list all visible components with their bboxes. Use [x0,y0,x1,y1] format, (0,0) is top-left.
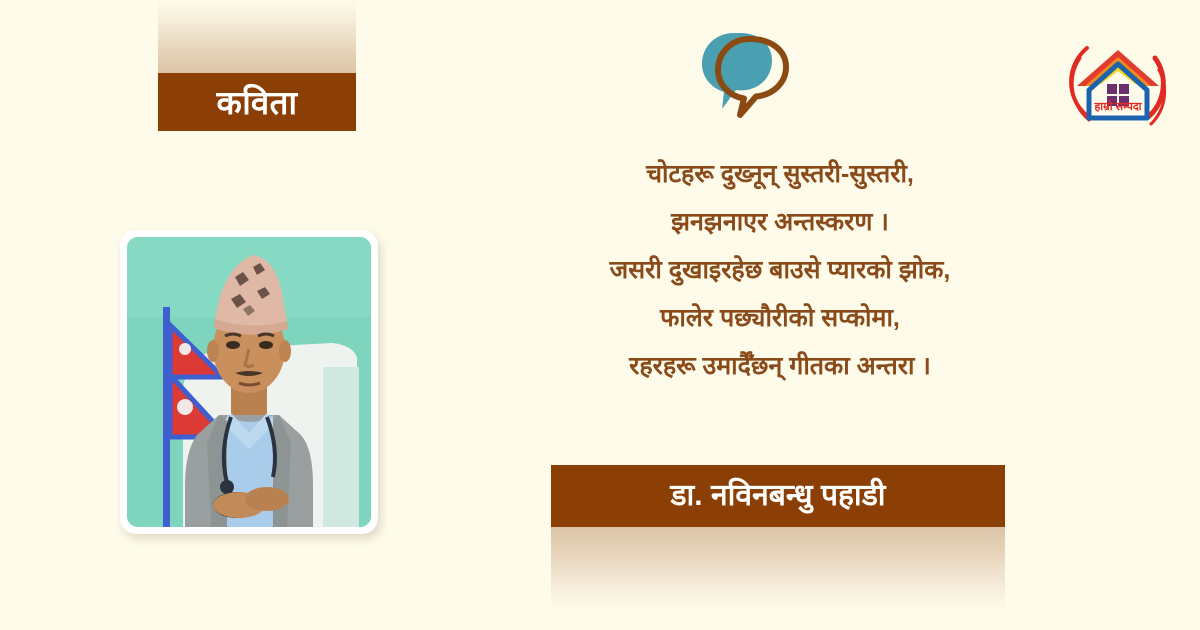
poem-line: फालेर पछ्यौरीको सप्कोमा, [540,294,1020,342]
brand-logo: हाम्रो सम्पदा [1063,28,1173,138]
poem-line: रहरहरू उमार्दैँछन् गीतका अन्तरा । [540,342,1020,390]
poem-line: झनझनाएर अन्तस्करण । [540,198,1020,246]
brand-logo-text: हाम्रो सम्पदा [1093,99,1142,113]
author-gradient-fade [551,527,1005,611]
category-label: कविता [216,86,297,119]
ribbon-gradient-fade [158,0,356,73]
category-ribbon: कविता [158,0,356,131]
author-portrait [127,237,371,527]
author-name-bar: डा. नविनबन्धु पहाडी [551,465,1005,527]
ribbon-band: कविता [158,73,356,131]
poster-canvas: कविता हाम्रो स [0,0,1200,630]
poem-line: चोटहरू दुख्नून् सुस्तरी-सुस्तरी, [540,150,1020,198]
portrait-frame [120,230,378,534]
speech-bubble-icon [698,27,790,119]
poem-line: जसरी दुखाइरहेछ बाउसे प्यारको झोक, [540,246,1020,294]
author-name: डा. नविनबन्धु पहाडी [670,481,885,511]
poem-block: चोटहरू दुख्नून् सुस्तरी-सुस्तरी, झनझनाएर… [540,150,1020,390]
